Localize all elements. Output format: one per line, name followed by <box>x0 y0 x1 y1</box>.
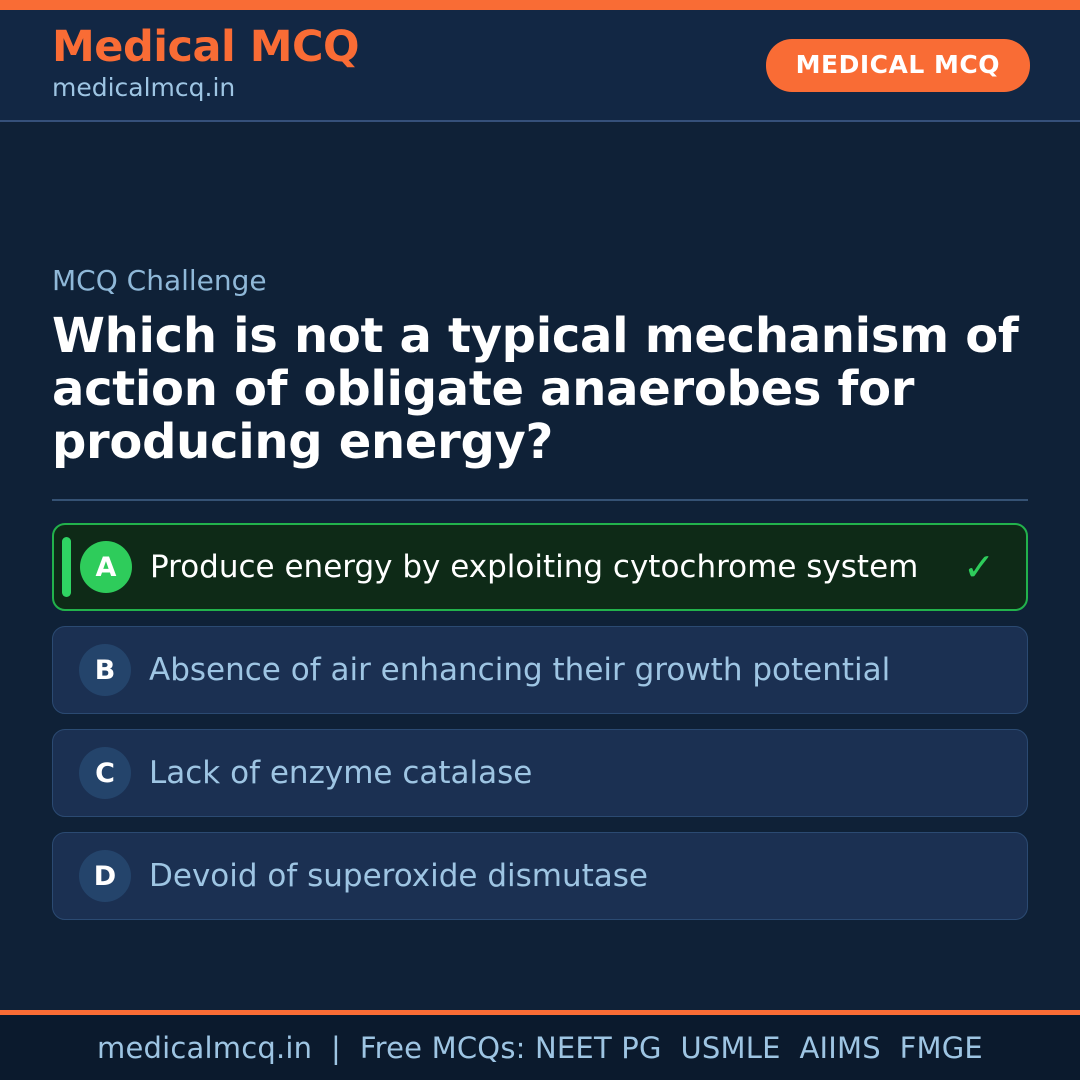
check-icon: ✓ <box>956 548 1002 586</box>
top-accent-bar <box>0 0 1080 10</box>
page-header: Medical MCQ medicalmcq.in MEDICAL MCQ <box>0 10 1080 122</box>
brand-title: Medical MCQ <box>52 25 359 70</box>
eyebrow-label: MCQ Challenge <box>52 264 1028 298</box>
option-c-text: Lack of enzyme catalase <box>149 757 957 790</box>
correct-accent-bar <box>62 537 71 597</box>
page-footer: medicalmcq.in | Free MCQs: NEET PG USMLE… <box>0 1010 1080 1080</box>
option-b-letter: B <box>79 644 131 696</box>
question-text: Which is not a typical mechanism of acti… <box>52 310 1028 470</box>
option-d[interactable]: D Devoid of superoxide dismutase <box>52 832 1028 920</box>
option-a-letter: A <box>80 541 132 593</box>
brand-subtitle: medicalmcq.in <box>52 72 359 105</box>
option-d-text: Devoid of superoxide dismutase <box>149 860 957 893</box>
option-c-letter: C <box>79 747 131 799</box>
option-c[interactable]: C Lack of enzyme catalase <box>52 729 1028 817</box>
options-list: A Produce energy by exploiting cytochrom… <box>52 523 1028 920</box>
mcq-card: Medical MCQ medicalmcq.in MEDICAL MCQ MC… <box>0 0 1080 1080</box>
brand-badge: MEDICAL MCQ <box>766 39 1030 92</box>
question-section: MCQ Challenge Which is not a typical mec… <box>0 122 1080 1010</box>
option-b-text: Absence of air enhancing their growth po… <box>149 654 957 687</box>
option-b[interactable]: B Absence of air enhancing their growth … <box>52 626 1028 714</box>
brand: Medical MCQ medicalmcq.in <box>52 25 359 105</box>
footer-text: medicalmcq.in | Free MCQs: NEET PG USMLE… <box>97 1031 983 1065</box>
option-a[interactable]: A Produce energy by exploiting cytochrom… <box>52 523 1028 611</box>
option-a-text: Produce energy by exploiting cytochrome … <box>150 551 956 584</box>
question-divider <box>52 499 1028 501</box>
option-d-letter: D <box>79 850 131 902</box>
